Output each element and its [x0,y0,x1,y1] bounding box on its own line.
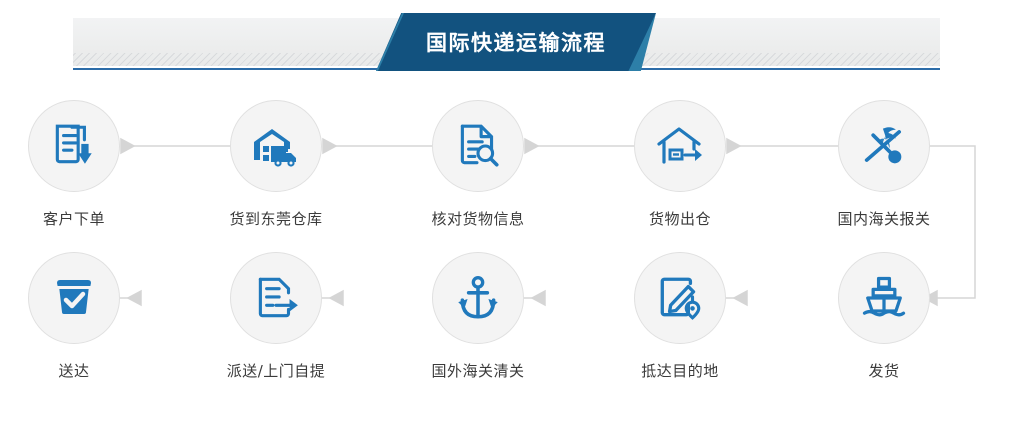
document-search-icon [453,121,503,171]
step-circle[interactable] [230,100,322,192]
flow-step-delivered[interactable]: 送达 [0,252,154,381]
step-circle[interactable] [838,100,930,192]
flow-step-arrive-destination[interactable]: 抵达目的地 [600,252,760,381]
step-label: 客户下单 [0,208,154,229]
step-label: 派送/上门自提 [196,360,356,381]
flow-step-domestic-customs-declaration[interactable]: 国内海关报关 [804,100,964,229]
step-circle[interactable] [432,100,524,192]
step-circle[interactable] [634,100,726,192]
step-label: 国外海关清关 [398,360,558,381]
box-check-icon [50,274,98,322]
step-label: 送达 [0,360,154,381]
page-header: 国际快递运输流程 [73,18,940,70]
step-circle[interactable] [230,252,322,344]
warehouse-truck-icon [250,120,302,172]
document-download-icon [49,121,99,171]
document-arrow-out-icon [251,273,301,323]
step-label: 抵达目的地 [600,360,760,381]
warehouse-exit-icon [654,120,706,172]
step-label: 货物出仓 [600,208,760,229]
step-circle[interactable] [28,252,120,344]
flow-step-delivery-or-pickup[interactable]: 派送/上门自提 [196,252,356,381]
step-label: 核对货物信息 [398,208,558,229]
flow-step-verify-cargo-info[interactable]: 核对货物信息 [398,100,558,229]
step-circle[interactable] [432,252,524,344]
step-label: 货到东莞仓库 [196,208,356,229]
page-title: 国际快递运输流程 [376,13,656,71]
step-label: 国内海关报关 [804,208,964,229]
flow-step-customer-order[interactable]: 客户下单 [0,100,154,229]
ship-icon [858,272,910,324]
flow-step-foreign-customs-clearance[interactable]: 国外海关清关 [398,252,558,381]
flow-step-cargo-out-of-warehouse[interactable]: 货物出仓 [600,100,760,229]
flow-step-shipment-dispatch[interactable]: 发货 [804,252,964,381]
step-label: 发货 [804,360,964,381]
step-circle[interactable] [634,252,726,344]
flow-step-arrive-dongguan-warehouse[interactable]: 货到东莞仓库 [196,100,356,229]
process-flow-diagram: 客户下单 货到东莞仓库 [0,92,1010,412]
step-circle[interactable] [28,100,120,192]
title-banner: 国际快递运输流程 [376,13,656,71]
step-circle[interactable] [838,252,930,344]
sign-pen-location-icon [655,273,705,323]
anchor-icon [453,273,503,323]
customs-emblem-icon [858,120,910,172]
